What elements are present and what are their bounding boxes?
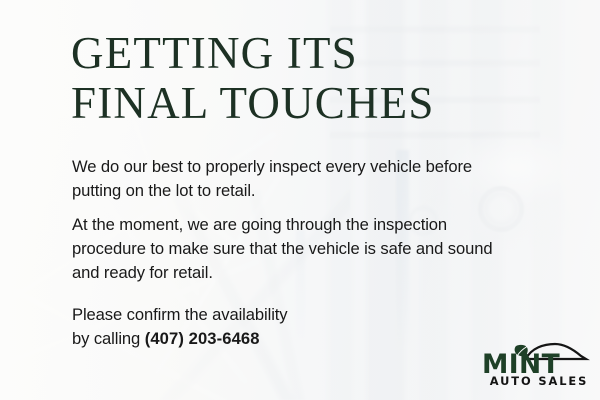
- mint-logotype: MINT: [482, 340, 594, 374]
- phone-number[interactable]: (407) 203-6468: [145, 329, 260, 348]
- headline-line-2: FINAL TOUCHES: [71, 78, 541, 128]
- call-to-action: Please confirm the availability by calli…: [72, 303, 432, 351]
- brand-logo[interactable]: MINT AUTO SALES: [482, 340, 594, 388]
- cta-line-2-prefix: by calling: [72, 329, 145, 348]
- headline-line-1: GETTING ITS: [71, 28, 541, 78]
- logo-tagline: AUTO SALES: [484, 374, 594, 388]
- body-paragraph-2: At the moment, we are going through the …: [72, 213, 512, 285]
- poster-content: GETTING ITS FINAL TOUCHES We do our best…: [0, 0, 600, 400]
- promo-poster: GETTING ITS FINAL TOUCHES We do our best…: [0, 0, 600, 400]
- cta-line-1: Please confirm the availability: [72, 305, 288, 324]
- mint-wordmark-text: MINT: [482, 349, 560, 374]
- page-title: GETTING ITS FINAL TOUCHES: [71, 28, 541, 128]
- body-paragraph-1: We do our best to properly inspect every…: [72, 155, 492, 203]
